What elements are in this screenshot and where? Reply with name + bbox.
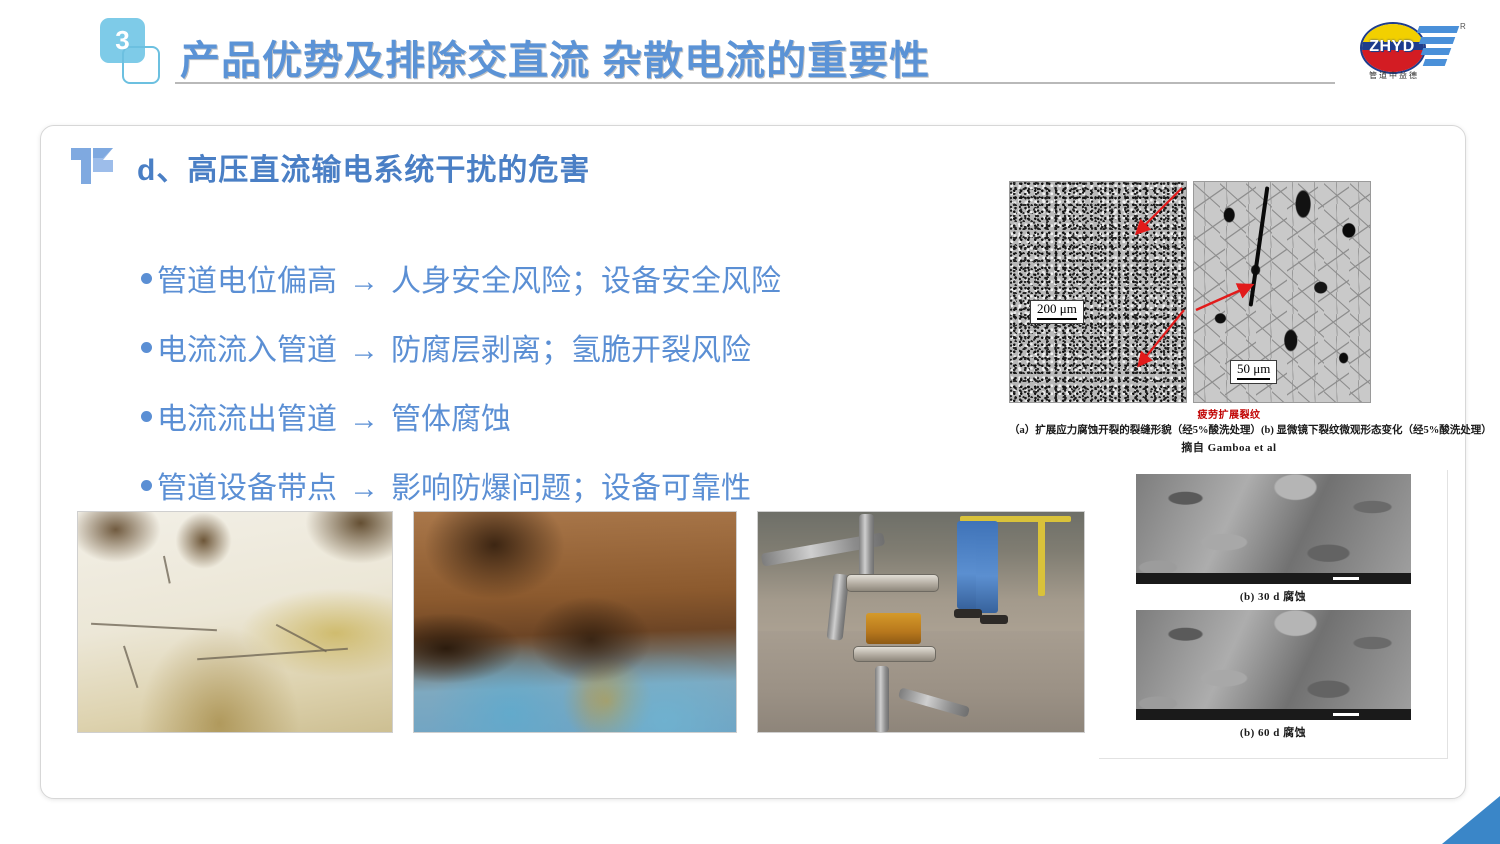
- scale-bar-label: 50 μm: [1237, 361, 1270, 376]
- flag-icon: [69, 146, 115, 186]
- bullet-effect-text: 人身安全风险；设备安全风险: [391, 256, 781, 300]
- micrograph-source-citation: 摘自 Gamboa et al: [1009, 439, 1449, 455]
- logo-subtitle-text: 管道中益德: [1356, 70, 1432, 81]
- worker-shoe-left: [954, 609, 982, 618]
- bullet-effect-text: 影响防爆问题；设备可靠性: [391, 463, 751, 507]
- sem-image-60d: [1136, 610, 1411, 720]
- section-number-badge: 3: [100, 18, 166, 88]
- bullet-dot-icon: [141, 342, 152, 353]
- page-title: 产品优势及排除交直流 杂散电流的重要性: [180, 28, 930, 86]
- logo-brand-text: ZHYD: [1362, 38, 1422, 56]
- hazard-bullet-list: 管道电位偏高 → 人身安全风险；设备安全风险 电流流入管道 → 防腐层剥离；氢脆…: [141, 256, 941, 532]
- company-logo: ZHYD 管道中益德 R: [1352, 14, 1472, 84]
- sem-image-30d: [1136, 474, 1411, 584]
- list-item: 电流流出管道 → 管体腐蚀: [141, 394, 941, 438]
- crack-feature: [1249, 187, 1270, 307]
- scale-bar-label: 200 μm: [1037, 301, 1077, 316]
- rusted-blue-paint-steel-photo: [413, 511, 737, 733]
- badge-number-label: 3: [100, 18, 145, 63]
- annotation-arrow-b-icon: [1194, 182, 1370, 402]
- arrow-right-icon: →: [349, 403, 379, 437]
- annotation-arrows-a-icon: [1010, 182, 1186, 402]
- worker-shoe-right: [980, 615, 1008, 624]
- corner-accent-triangle: [1442, 796, 1500, 844]
- section-heading: d、高压直流输电系统干扰的危害: [137, 145, 590, 189]
- scale-bar-50um: 50 μm: [1230, 360, 1277, 384]
- sem-caption-60d: (b) 60 d 腐蚀: [1103, 724, 1443, 740]
- arrow-right-icon: →: [349, 472, 379, 506]
- bullet-dot-icon: [141, 480, 152, 491]
- sem-panel-30d: (b) 30 d 腐蚀: [1103, 474, 1443, 604]
- bullet-dot-icon: [141, 273, 152, 284]
- bullet-cause-text: 电流流入管道: [157, 325, 337, 369]
- bullet-effect-text: 管体腐蚀: [391, 394, 511, 438]
- slide-header: 3 产品优势及排除交直流 杂散电流的重要性 ZHYD 管道中益德 R: [0, 0, 1500, 100]
- content-card: d、高压直流输电系统干扰的危害 管道电位偏高 → 人身安全风险；设备安全风险 电…: [40, 125, 1466, 799]
- yellow-rail-post: [1038, 516, 1045, 595]
- bullet-cause-text: 电流流出管道: [157, 394, 337, 438]
- micrograph-caption: （a）扩展应力腐蚀开裂的裂缝形貌（经5%酸洗处理）(b) 显微镜下裂纹微观形态变…: [1009, 422, 1449, 437]
- list-item: 电流流入管道 → 防腐层剥离；氢脆开裂风险: [141, 325, 941, 369]
- registered-trademark-icon: R: [1460, 22, 1466, 31]
- micrograph-figure: 200 μm 50 μm: [1009, 181, 1449, 455]
- sem-caption-30d: (b) 30 d 腐蚀: [1103, 588, 1443, 604]
- fatigue-crack-label: 疲劳扩展裂纹: [1009, 406, 1449, 421]
- arrow-right-icon: →: [349, 265, 379, 299]
- worker-leg-right: [976, 521, 998, 613]
- bullet-cause-text: 管道设备带点: [157, 463, 337, 507]
- micrograph-panel-b-image: 50 μm: [1193, 181, 1371, 403]
- list-item: 管道电位偏高 → 人身安全风险；设备安全风险: [141, 256, 941, 300]
- sem-panel-60d: (b) 60 d 腐蚀: [1103, 610, 1443, 740]
- scale-bar-200um: 200 μm: [1030, 300, 1084, 324]
- bullet-dot-icon: [141, 411, 152, 422]
- sem-figure: (b) 30 d 腐蚀 (b) 60 d 腐蚀: [1103, 474, 1443, 746]
- pipe-downcomer: [875, 666, 889, 732]
- bullet-cause-text: 管道电位偏高: [157, 256, 337, 300]
- pipe-flange-upper: [846, 574, 939, 592]
- arrow-right-icon: →: [349, 334, 379, 368]
- micrograph-panel-a-image: 200 μm: [1009, 181, 1187, 403]
- title-underline-divider: [175, 82, 1335, 84]
- pipe-orange-spool: [866, 613, 921, 644]
- bullet-effect-text: 防腐层剥离；氢脆开裂风险: [391, 325, 751, 369]
- pipeline-flange-field-photo: [757, 511, 1085, 733]
- pipe-flange-lower: [853, 646, 937, 662]
- list-item: 管道设备带点 → 影响防爆问题；设备可靠性: [141, 463, 941, 507]
- cracked-coating-wall-photo: [77, 511, 393, 733]
